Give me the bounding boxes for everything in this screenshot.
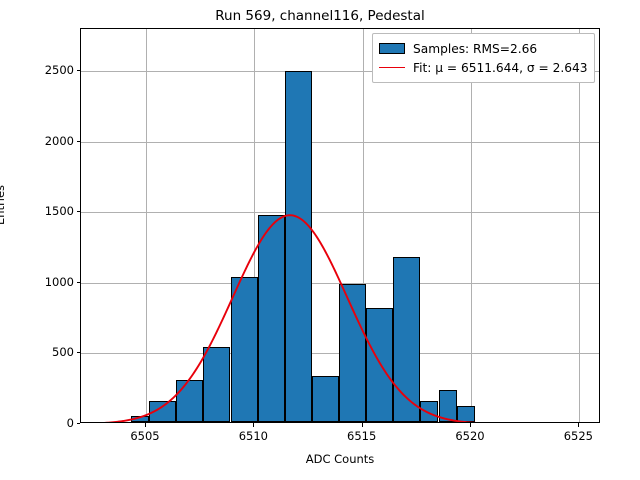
y-tick-label: 2000 xyxy=(38,134,74,148)
y-tick-label: 500 xyxy=(38,345,74,359)
legend-label-samples: Samples: RMS=2.66 xyxy=(413,42,537,56)
page-title: Run 569, channel116, Pedestal xyxy=(0,8,640,24)
y-tick-label: 0 xyxy=(38,416,74,430)
fit-curve xyxy=(81,29,599,422)
y-tick-mark xyxy=(77,423,81,424)
x-tick-label: 6525 xyxy=(564,429,593,443)
y-tick-label: 1000 xyxy=(38,275,74,289)
x-axis-label: ADC Counts xyxy=(80,452,600,466)
x-tick-label: 6505 xyxy=(130,429,159,443)
y-tick-mark xyxy=(77,70,81,71)
legend-patch-icon xyxy=(379,43,405,54)
legend: Samples: RMS=2.66 Fit: μ = 6511.644, σ =… xyxy=(372,33,595,83)
x-tick-mark xyxy=(253,423,254,427)
x-tick-mark xyxy=(578,423,579,427)
legend-item-fit: Fit: μ = 6511.644, σ = 2.643 xyxy=(379,58,587,77)
y-axis-label: Entries xyxy=(0,185,7,225)
legend-item-samples: Samples: RMS=2.66 xyxy=(379,39,587,58)
plot-area xyxy=(80,28,600,423)
y-tick-mark xyxy=(77,352,81,353)
gaussian-fit-path xyxy=(81,215,599,422)
legend-line-icon xyxy=(379,67,405,68)
x-tick-label: 6510 xyxy=(239,429,268,443)
y-tick-label: 2500 xyxy=(38,63,74,77)
x-tick-mark xyxy=(362,423,363,427)
x-tick-mark xyxy=(470,423,471,427)
x-tick-label: 6515 xyxy=(347,429,376,443)
y-tick-mark xyxy=(77,282,81,283)
x-tick-label: 6520 xyxy=(455,429,484,443)
legend-label-fit: Fit: μ = 6511.644, σ = 2.643 xyxy=(413,61,587,75)
x-tick-mark xyxy=(145,423,146,427)
y-tick-label: 1500 xyxy=(38,204,74,218)
y-tick-mark xyxy=(77,141,81,142)
y-tick-mark xyxy=(77,211,81,212)
figure: Run 569, channel116, Pedestal 6505651065… xyxy=(0,0,640,480)
